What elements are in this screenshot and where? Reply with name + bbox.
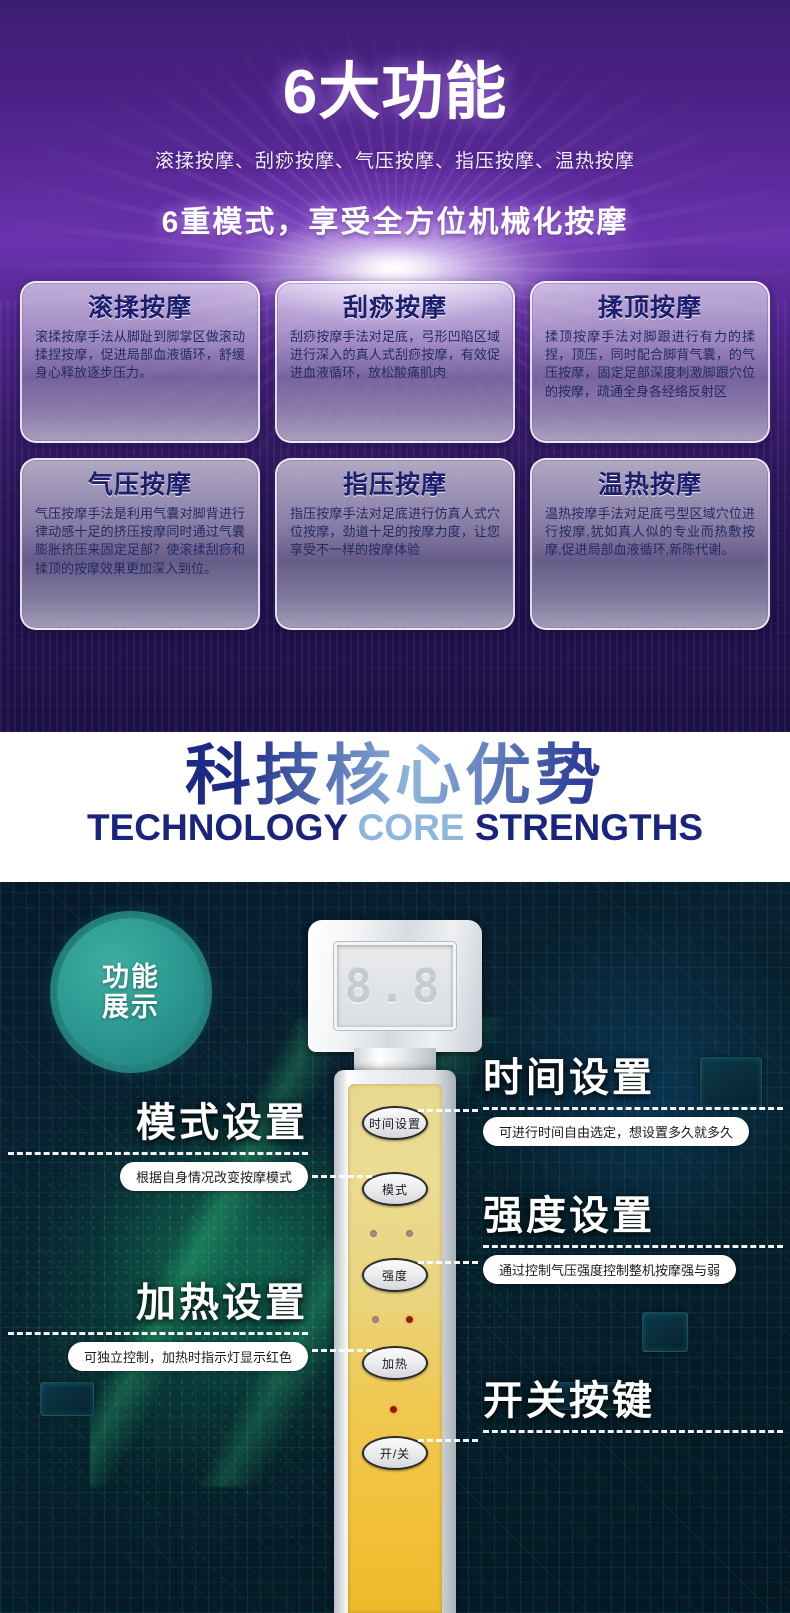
indicator-led-intensity-2 <box>406 1316 413 1323</box>
callout-divider <box>483 1245 783 1248</box>
product-detail-page: 6大功能 滚揉按摩、刮痧按摩、气压按摩、指压按摩、温热按摩 6重模式，享受全方位… <box>0 0 790 1613</box>
tech-heading-en-part2: CORE <box>358 807 475 848</box>
tech-heading-section: 科技核心优势 TECHNOLOGY CORE STRENGTHS <box>0 732 790 882</box>
callout-heat-setting: 加热设置 可独立控制，加热时指示灯显示红色 <box>8 1283 308 1371</box>
feature-card: 滚揉按摩 滚揉按摩手法从脚趾到脚掌区做滚动揉捏按摩，促进局部血液循环，舒缓身心释… <box>20 281 260 443</box>
callout-caption: 根据自身情况改变按摩模式 <box>120 1162 308 1191</box>
hero-heading-group: 6大功能 滚揉按摩、刮痧按摩、气压按摩、指压按摩、温热按摩 6重模式，享受全方位… <box>0 0 790 241</box>
feature-card-body: 温热按摩手法对足底弓型区域穴位进行按摩,犹如真人似的专业而热敷按摩,促进局部血液… <box>545 505 755 560</box>
feature-card-body: 揉顶按摩手法对脚跟进行有力的揉捏，顶压，同时配合脚背气囊，的气压按摩，固定足部深… <box>545 328 755 402</box>
callout-title: 开关按键 <box>483 1381 783 1421</box>
callout-power-button: 开关按键 <box>483 1381 783 1433</box>
callout-intensity-setting: 强度设置 通过控制气压强度控制整机按摩强与弱 <box>483 1196 783 1284</box>
tech-heading-en-part3: STRENGTHS <box>475 807 703 848</box>
badge-line-2: 展示 <box>102 992 160 1022</box>
callout-divider <box>483 1430 783 1433</box>
chip-decoration <box>40 1382 94 1416</box>
indicator-led-heat <box>390 1406 397 1413</box>
leader-line-power <box>418 1439 478 1442</box>
device-display-screen: 8.8 <box>334 942 456 1030</box>
chip-decoration <box>642 1312 688 1352</box>
callout-title: 强度设置 <box>483 1196 783 1236</box>
feature-card-title: 气压按摩 <box>35 472 245 500</box>
hero-section: 6大功能 滚揉按摩、刮痧按摩、气压按摩、指压按摩、温热按摩 6重模式，享受全方位… <box>0 0 790 732</box>
feature-card-grid: 滚揉按摩 滚揉按摩手法从脚趾到脚掌区做滚动揉捏按摩，促进局部血液循环，舒缓身心释… <box>20 281 770 630</box>
tech-heading-en: TECHNOLOGY CORE STRENGTHS <box>0 807 790 849</box>
feature-card-body: 指压按摩手法对足底进行仿真人式穴位按摩，劲道十足的按摩力度，让您享受不一样的按摩… <box>290 505 500 560</box>
feature-card: 气压按摩 气压按摩手法是利用气囊对脚背进行律动感十足的挤压按摩同时通过气囊膨胀挤… <box>20 458 260 630</box>
badge-line-1: 功能 <box>102 962 160 992</box>
callout-caption: 可独立控制，加热时指示灯显示红色 <box>68 1342 308 1371</box>
feature-card-title: 滚揉按摩 <box>35 295 245 323</box>
feature-card-title: 指压按摩 <box>290 472 500 500</box>
leader-line-time <box>418 1109 478 1112</box>
callout-divider <box>8 1332 308 1335</box>
indicator-led-mode-2 <box>406 1230 413 1237</box>
callout-title: 时间设置 <box>483 1058 783 1098</box>
callout-title: 加热设置 <box>8 1283 308 1323</box>
feature-card-title: 揉顶按摩 <box>545 295 755 323</box>
feature-card: 温热按摩 温热按摩手法对足底弓型区域穴位进行按摩,犹如真人似的专业而热敷按摩,促… <box>530 458 770 630</box>
feature-card-title: 刮痧按摩 <box>290 295 500 323</box>
feature-card-body: 刮痧按摩手法对足底，弓形凹陷区域进行深入的真人式刮痧按摩，有效促进血液循环，放松… <box>290 328 500 383</box>
indicator-led-intensity-1 <box>372 1316 379 1323</box>
device-display-value: 8.8 <box>344 959 445 1013</box>
indicator-led-mode-1 <box>370 1230 377 1237</box>
function-demo-badge-label: 功能 展示 <box>102 962 160 1022</box>
callout-caption: 通过控制气压强度控制整机按摩强与弱 <box>483 1255 736 1284</box>
function-demo-badge: 功能 展示 <box>57 918 205 1066</box>
callout-mode-setting: 模式设置 根据自身情况改变按摩模式 <box>8 1103 308 1191</box>
device-head: 8.8 <box>308 920 482 1052</box>
feature-card: 刮痧按摩 刮痧按摩手法对足底，弓形凹陷区域进行深入的真人式刮痧按摩，有效促进血液… <box>275 281 515 443</box>
feature-card-body: 滚揉按摩手法从脚趾到脚掌区做滚动揉捏按摩，促进局部血液循环，舒缓身心释放逐步压力… <box>35 328 245 383</box>
feature-card: 揉顶按摩 揉顶按摩手法对脚跟进行有力的揉捏，顶压，同时配合脚背气囊，的气压按摩，… <box>530 281 770 443</box>
leader-line-intensity <box>418 1261 478 1264</box>
callout-title: 模式设置 <box>8 1103 308 1143</box>
hero-tagline: 6重模式，享受全方位机械化按摩 <box>0 197 790 241</box>
hero-title: 6大功能 <box>0 62 790 124</box>
callout-divider <box>483 1107 783 1110</box>
feature-card-title: 温热按摩 <box>545 472 755 500</box>
hero-subtitle: 滚揉按摩、刮痧按摩、气压按摩、指压按摩、温热按摩 <box>0 146 790 173</box>
callout-caption: 可进行时间自由选定，想设置多久就多久 <box>483 1117 749 1146</box>
tech-heading-cn: 科技核心优势 <box>0 740 790 811</box>
callout-divider <box>8 1152 308 1155</box>
callout-time-setting: 时间设置 可进行时间自由选定，想设置多久就多久 <box>483 1058 783 1146</box>
massager-controller-device: 8.8 时间设置 模式 强度 加热 开/关 <box>316 920 474 1613</box>
feature-card-body: 气压按摩手法是利用气囊对脚背进行律动感十足的挤压按摩同时通过气囊膨胀挤压来固定足… <box>35 505 245 579</box>
device-body: 时间设置 模式 强度 加热 开/关 <box>334 1070 456 1613</box>
tech-heading-en-part1: TECHNOLOGY <box>87 807 358 848</box>
leader-line-heat <box>312 1349 372 1352</box>
leader-line-mode <box>312 1175 372 1178</box>
feature-card: 指压按摩 指压按摩手法对足底进行仿真人式穴位按摩，劲道十足的按摩力度，让您享受不… <box>275 458 515 630</box>
